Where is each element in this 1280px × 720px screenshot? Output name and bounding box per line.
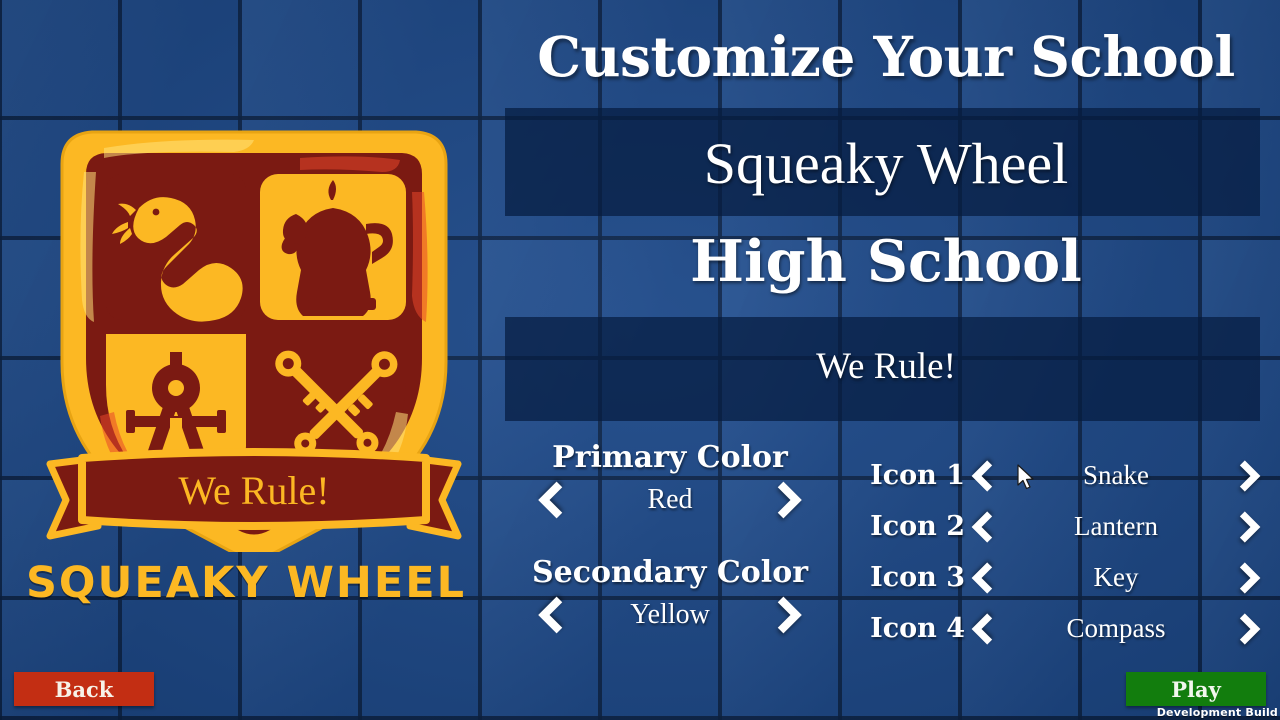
game-screen: We Rule! SQUEAKY WHEEL Customize Your Sc… — [0, 0, 1280, 720]
icon-2-next-button[interactable] — [1227, 506, 1267, 548]
crest-banner: We Rule! — [50, 452, 458, 536]
icon-3-label: Icon 3 — [847, 562, 965, 593]
icon-2-prev-button[interactable] — [965, 506, 1005, 548]
primary-color-label: Primary Color — [505, 440, 835, 475]
icon-selector-4: Icon 4 Compass — [847, 603, 1267, 654]
school-wordmark: SQUEAKY WHEEL — [0, 558, 492, 608]
secondary-color-prev-button[interactable] — [537, 594, 571, 636]
school-type-label: High School — [492, 228, 1280, 295]
school-motto-value: We Rule! — [492, 345, 1280, 388]
back-button[interactable]: Back — [14, 672, 154, 706]
icon-4-prev-button[interactable] — [965, 608, 1005, 650]
primary-color-next-button[interactable] — [769, 479, 803, 521]
icon-3-next-button[interactable] — [1227, 557, 1267, 599]
icon-selector-2: Icon 2 Lantern — [847, 501, 1267, 552]
icon-3-value: Key — [1005, 562, 1227, 593]
crest-banner-text: We Rule! — [178, 468, 329, 513]
icon-1-next-button[interactable] — [1227, 455, 1267, 497]
icon-4-value: Compass — [1005, 613, 1227, 644]
secondary-color-label: Secondary Color — [505, 555, 835, 590]
secondary-color-selector: Secondary Color Yellow — [505, 555, 835, 636]
icon-1-value: Snake — [1005, 460, 1227, 491]
primary-color-value: Red — [571, 484, 769, 516]
primary-color-prev-button[interactable] — [537, 479, 571, 521]
icon-1-prev-button[interactable] — [965, 455, 1005, 497]
icon-selector-3: Icon 3 Key — [847, 552, 1267, 603]
icon-1-label: Icon 1 — [847, 460, 965, 491]
icon-selector-1: Icon 1 Snake — [847, 450, 1267, 501]
icon-2-label: Icon 2 — [847, 511, 965, 542]
development-build-watermark: Development Build — [1157, 706, 1278, 719]
school-crest: We Rule! — [44, 112, 464, 552]
icon-3-prev-button[interactable] — [965, 557, 1005, 599]
crest-preview-panel: We Rule! SQUEAKY WHEEL — [0, 0, 492, 720]
icon-selector-list: Icon 1 Snake Icon 2 Lantern Icon 3 Key I… — [847, 450, 1267, 654]
school-name-value: Squeaky Wheel — [492, 130, 1280, 197]
secondary-color-next-button[interactable] — [769, 594, 803, 636]
icon-4-next-button[interactable] — [1227, 608, 1267, 650]
icon-2-value: Lantern — [1005, 511, 1227, 542]
page-title: Customize Your School — [492, 24, 1280, 89]
primary-color-selector: Primary Color Red — [505, 440, 835, 521]
secondary-color-value: Yellow — [571, 599, 769, 631]
play-button[interactable]: Play — [1126, 672, 1266, 706]
customize-form-panel: Customize Your School Squeaky Wheel High… — [492, 0, 1280, 720]
icon-4-label: Icon 4 — [847, 613, 965, 644]
